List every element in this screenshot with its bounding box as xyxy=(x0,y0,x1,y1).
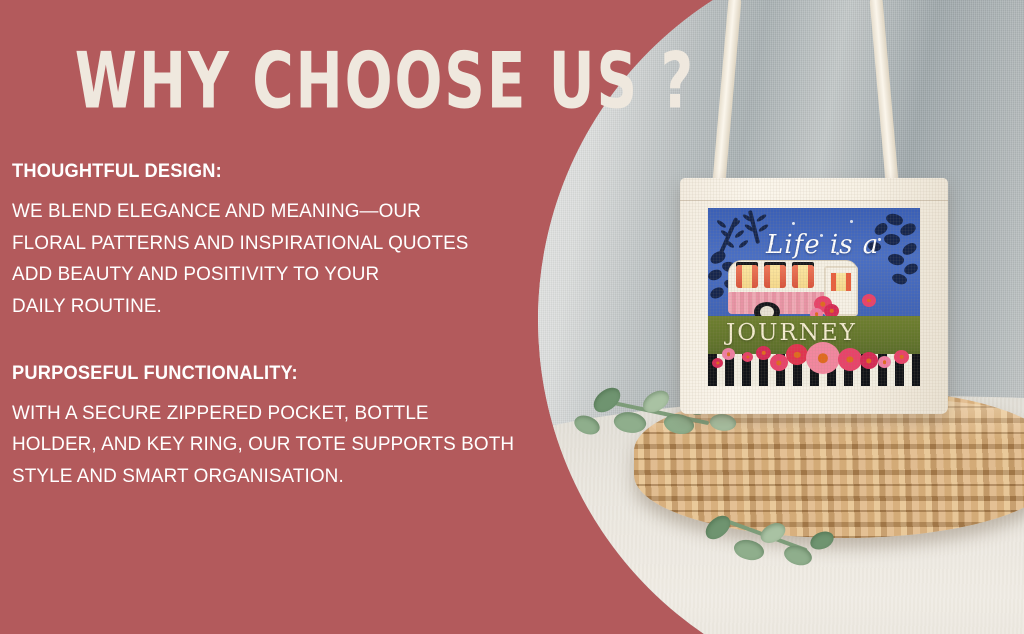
caravan-lower-body xyxy=(728,292,856,314)
caravan-wheel xyxy=(754,302,780,322)
caravan-upper-body xyxy=(728,260,858,296)
benefit-body-line: FLORAL PATTERNS AND INSPIRATIONAL QUOTES xyxy=(12,228,582,260)
benefit-block-thoughtful-design: THOUGHTFUL DESIGN: WE BLEND ELEGANCE AND… xyxy=(12,161,600,322)
benefit-body: WITH A SECURE ZIPPERED POCKET, BOTTLE HO… xyxy=(12,398,582,493)
benefit-block-purposeful-functionality: PURPOSEFUL FUNCTIONALITY: WITH A SECURE … xyxy=(12,363,600,493)
print-fence xyxy=(708,354,920,386)
benefit-body-line: STYLE AND SMART ORGANISATION. xyxy=(12,461,582,493)
tote-seam xyxy=(680,200,948,201)
caravan-door xyxy=(824,266,858,316)
benefit-body-line: HOLDER, AND KEY RING, OUR TOTE SUPPORTS … xyxy=(12,429,582,461)
benefit-body-line: WITH A SECURE ZIPPERED POCKET, BOTTLE xyxy=(12,398,582,430)
print-script-bottom: JOURNEY xyxy=(726,320,857,346)
print-grass xyxy=(708,316,920,360)
benefit-title: THOUGHTFUL DESIGN: xyxy=(12,161,576,183)
why-choose-us-banner: Life is a xyxy=(0,0,1024,634)
tote-body: Life is a xyxy=(680,178,948,414)
benefit-body-line: ADD BEAUTY AND POSITIVITY TO YOUR xyxy=(12,259,582,291)
benefit-body-line: WE BLEND ELEGANCE AND MEANING—OUR xyxy=(12,196,582,228)
tote-bag: Life is a xyxy=(680,178,948,414)
benefit-body-line: DAILY ROUTINE. xyxy=(12,291,582,323)
benefit-title: PURPOSEFUL FUNCTIONALITY: xyxy=(12,363,576,385)
print-sky xyxy=(708,208,920,316)
benefit-body: WE BLEND ELEGANCE AND MEANING—OUR FLORAL… xyxy=(12,196,582,322)
text-content: WHY CHOOSE US ? THOUGHTFUL DESIGN: WE BL… xyxy=(0,0,600,634)
print-caravan xyxy=(728,260,878,322)
print-script-top: Life is a xyxy=(766,230,879,260)
page-title: WHY CHOOSE US ? xyxy=(12,0,571,122)
tote-print-artwork: Life is a xyxy=(708,208,920,386)
